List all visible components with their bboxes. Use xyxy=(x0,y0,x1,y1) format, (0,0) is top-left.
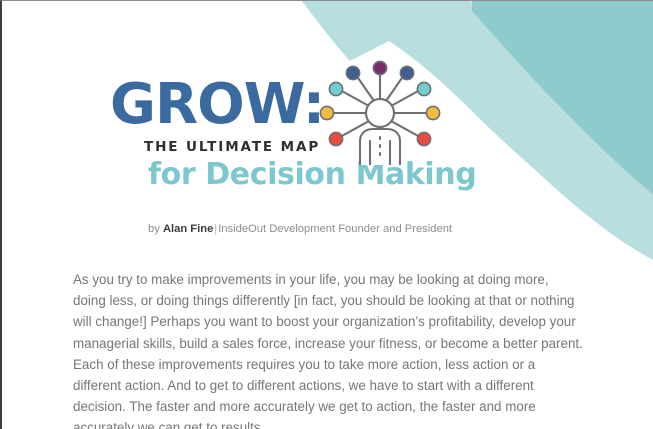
spoke-cyan-right xyxy=(391,90,420,106)
page-title-tagline: for Decision Making xyxy=(148,158,330,192)
body-paragraph: As you try to make improvements in your … xyxy=(73,269,584,429)
node-purple xyxy=(373,61,386,74)
page-title-main: GROW: xyxy=(110,77,330,133)
node-amber-right xyxy=(426,106,439,119)
node-cyan-right xyxy=(417,82,430,95)
node-blue-right xyxy=(400,66,413,79)
title-stack: GROW: THE ULTIMATE MAP for Decision Maki… xyxy=(110,77,330,192)
document-page: GROW: THE ULTIMATE MAP for Decision Maki… xyxy=(0,0,653,429)
byline-prefix: by xyxy=(148,223,163,235)
node-red-left xyxy=(329,132,342,145)
byline: by Alan Fine|InsideOut Development Found… xyxy=(148,223,452,235)
teal-light-lower-band xyxy=(502,137,653,261)
node-amber-left xyxy=(320,106,333,119)
byline-author: Alan Fine xyxy=(163,223,213,235)
teal-dark-shape xyxy=(472,2,653,189)
spoke-blue-left xyxy=(356,75,374,101)
person-network-icon xyxy=(318,53,442,165)
node-blue-left xyxy=(346,66,359,79)
teal-dark-sliver xyxy=(472,1,653,196)
page-title-sub: THE ULTIMATE MAP xyxy=(144,139,330,155)
spoke-blue-right xyxy=(386,75,404,101)
byline-affiliation: InsideOut Development Founder and Presid… xyxy=(218,223,452,235)
spoke-cyan-left xyxy=(340,90,369,106)
icon-head xyxy=(366,99,394,127)
node-red-right xyxy=(417,132,430,145)
body-copy: As you try to make improvements in your … xyxy=(73,269,584,429)
node-cyan-left xyxy=(329,82,342,95)
